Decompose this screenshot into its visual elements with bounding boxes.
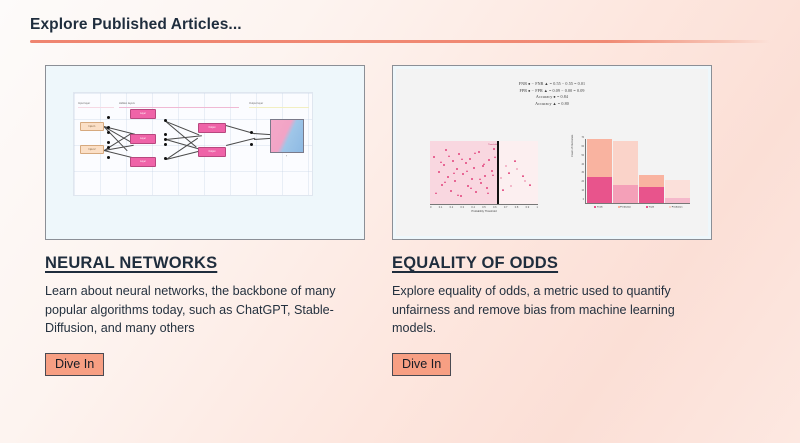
scatter-point [466,170,468,172]
scatter-point [502,189,504,191]
bar-legend-label: Prediction [672,207,683,209]
bar-legend: Truth Prediction Truth Prediction [587,206,690,209]
nn-hidden2-node-1: Output [198,123,226,133]
bar-ytick: 60 [575,146,584,148]
scatter-point [470,187,472,189]
scatter-point [444,181,446,183]
scatter-point [505,165,507,167]
scatter-point [465,162,467,164]
bar-column [587,139,612,203]
bar-column [665,139,690,203]
scatter-point [440,161,442,163]
scatter-point [460,195,462,197]
scatter-point [454,180,456,182]
scatter-point [480,182,482,184]
scatter-xtick: 0.7 [504,206,508,209]
bar-legend-item: Prediction [669,206,682,209]
nn-input-node-1-label: Input 1 [81,123,103,132]
scatter-point [461,158,463,160]
nn-weight-dot [107,116,110,119]
article-card-list: Input layer Hidden layers Output layer [0,43,800,376]
bar-ytick: 70 [575,137,584,139]
scatter-point [508,172,510,174]
bar-ytick: 20 [575,181,584,183]
bar-y-ticks: 70 60 50 40 30 20 10 0 [575,137,584,201]
nn-weight-dot [164,143,167,146]
bar-segment [665,180,690,197]
nn-hidden-node-3: Layer [130,157,156,167]
nn-weight-dot [164,138,167,141]
scatter-point [471,178,473,180]
nn-output-heatmap [270,119,304,153]
bar-plot-area [587,139,690,203]
threshold-scatter-chart: Threshold 0 0.1 0.2 0.3 0.4 0.5 0.6 0.7 … [430,141,538,213]
scatter-xtick: 0 [430,206,431,209]
bar-segment [639,187,664,203]
nn-weight-dot [107,156,110,159]
bar-legend-item: Truth [646,206,654,209]
scatter-x-label: Probability Threshold [430,210,538,213]
nn-layer-label-hidden: Hidden layers [119,102,135,105]
nn-hidden2-node-1-label: Output [199,124,225,133]
scatter-point [484,175,486,177]
outcome-bar-chart: Count of Outcomes 70 60 50 40 30 20 10 0 [572,139,692,215]
scatter-point [491,170,493,172]
nn-hidden-node-1: Layer [130,109,156,119]
article-card-equality-of-odds: FNR ● − FNR ▲ = 0.55 − 0.55 = 0.01 FPR ●… [392,65,717,376]
nn-hidden2-node-2: Output [198,147,226,157]
scatter-xtick: 0.9 [526,206,530,209]
page-header: Explore Published Articles... [0,0,800,43]
bar-segment [639,175,664,187]
bar-ytick: 10 [575,190,584,192]
threshold-line [497,141,499,204]
scatter-point [483,163,485,165]
nn-edge [166,121,200,135]
scatter-point [500,177,502,179]
fairness-equation-fpr: FPR ● − FPR ▲ = 0.09 − 0.00 = 0.09 [396,88,708,95]
fairness-equations: FNR ● − FNR ▲ = 0.55 − 0.55 = 0.01 FPR ●… [396,81,708,107]
scatter-point [478,151,480,153]
bar-segment [587,139,612,177]
bar-segment [587,177,612,203]
scatter-point [522,175,524,177]
nn-label-rule-input [78,107,114,108]
nn-hidden-node-3-label: Layer [131,158,155,167]
nn-input-node-1: Input 1 [80,122,104,131]
scatter-point [487,192,489,194]
fairness-accuracy-triangle: Accuracy ▲ = 0.80 [396,101,708,108]
scatter-point [492,174,494,176]
nn-input-node-2: Input 2 [80,145,104,154]
scatter-point [494,156,496,158]
nn-hidden2-node-2-label: Output [199,148,225,157]
scatter-point [524,180,526,182]
scatter-point [453,172,455,174]
nn-weight-dot [250,143,253,146]
scatter-point [457,194,459,196]
article-description-neural-networks: Learn about neural networks, the backbon… [45,282,363,338]
scatter-point [443,164,445,166]
scatter-xtick: 0.6 [493,206,497,209]
nn-hidden-node-1-label: Layer [131,110,155,119]
bar-ytick: 30 [575,172,584,174]
scatter-point [529,184,531,186]
article-thumbnail-neural-networks[interactable]: Input layer Hidden layers Output layer [45,65,365,240]
scatter-xtick: 0.1 [439,206,443,209]
dive-in-button-neural-networks[interactable]: Dive In [45,353,104,376]
scatter-point [488,159,490,161]
scatter-point [473,167,475,169]
scatter-point [474,152,476,154]
scatter-point [433,156,435,158]
scatter-xtick: 0.2 [450,206,454,209]
scatter-point [479,178,481,180]
bar-y-axis [585,139,586,203]
scatter-xtick: 1 [536,206,537,209]
bar-legend-label: Prediction [620,207,631,209]
bar-legend-item: Prediction [618,206,631,209]
nn-layer-label-input: Input layer [78,102,90,105]
scatter-point [514,160,516,162]
scatter-point [448,155,450,157]
scatter-xtick: 0.3 [460,206,464,209]
scatter-point [447,176,449,178]
scatter-point [435,192,437,194]
scatter-point [486,187,488,189]
article-thumbnail-equality-of-odds[interactable]: FNR ● − FNR ▲ = 0.55 − 0.55 = 0.01 FPR ●… [392,65,712,240]
nn-weight-dot [250,131,253,134]
scatter-plot-area: Threshold [430,141,538,204]
scatter-annotation: Threshold [488,144,497,147]
bar-legend-label: Truth [649,207,654,209]
scatter-point [516,168,518,170]
bar-segment [613,185,638,203]
scatter-point [445,149,447,151]
scatter-point [450,190,452,192]
article-description-equality-of-odds: Explore equality of odds, a metric used … [392,282,710,338]
nn-weight-dot [107,131,110,134]
nn-weight-dot [164,133,167,136]
scatter-xtick: 0.8 [515,206,519,209]
scatter-point [462,173,464,175]
bar-legend-label: Truth [597,207,602,209]
bar-ytick: 50 [575,155,584,157]
scatter-xtick: 0.5 [482,206,486,209]
article-title-equality-of-odds[interactable]: EQUALITY OF ODDS [392,254,717,273]
fairness-accuracy-circle: Accuracy ● = 0.84 [396,94,708,101]
scatter-point [452,160,454,162]
nn-hidden-node-2: Layer [130,134,156,144]
scatter-point [482,165,484,167]
bar-column [639,139,664,203]
dive-in-button-equality-of-odds[interactable]: Dive In [392,353,451,376]
scatter-point [467,185,469,187]
nn-weight-dot [164,157,167,160]
scatter-point [475,191,477,193]
bar-x-axis [585,203,690,204]
nn-label-rule-output [249,107,309,108]
fairness-metrics-figure: FNR ● − FNR ▲ = 0.55 − 0.55 = 0.01 FPR ●… [396,69,708,236]
nn-hidden-node-2-label: Layer [131,135,155,144]
nn-output-caption: y [286,155,287,157]
bar-y-label: Count of Outcomes [571,135,574,157]
scatter-point [510,185,512,187]
scatter-xtick: 0.4 [471,206,475,209]
article-title-neural-networks[interactable]: NEURAL NETWORKS [45,254,370,273]
neural-network-diagram: Input layer Hidden layers Output layer [73,92,313,196]
bar-ytick: 0 [575,199,584,201]
scatter-x-ticks: 0 0.1 0.2 0.3 0.4 0.5 0.6 0.7 0.8 0.9 1 [430,206,538,209]
nn-layer-label-output: Output layer [249,102,263,105]
nn-input-node-2-label: Input 2 [81,146,103,155]
scatter-point [456,168,458,170]
bar-legend-item: Truth [594,206,602,209]
nn-label-rule-hidden [119,107,239,108]
scatter-point [469,158,471,160]
scatter-point [493,148,495,150]
scatter-point [441,184,443,186]
bar-segment [613,141,638,185]
article-card-neural-networks: Input layer Hidden layers Output layer [45,65,370,376]
page-title: Explore Published Articles... [30,16,800,33]
scatter-point [438,171,440,173]
bar-ytick: 40 [575,164,584,166]
fairness-equation-fnr: FNR ● − FNR ▲ = 0.55 − 0.55 = 0.01 [396,81,708,88]
scatter-point [458,153,460,155]
nn-weight-dot [107,141,110,144]
bar-column [613,139,638,203]
